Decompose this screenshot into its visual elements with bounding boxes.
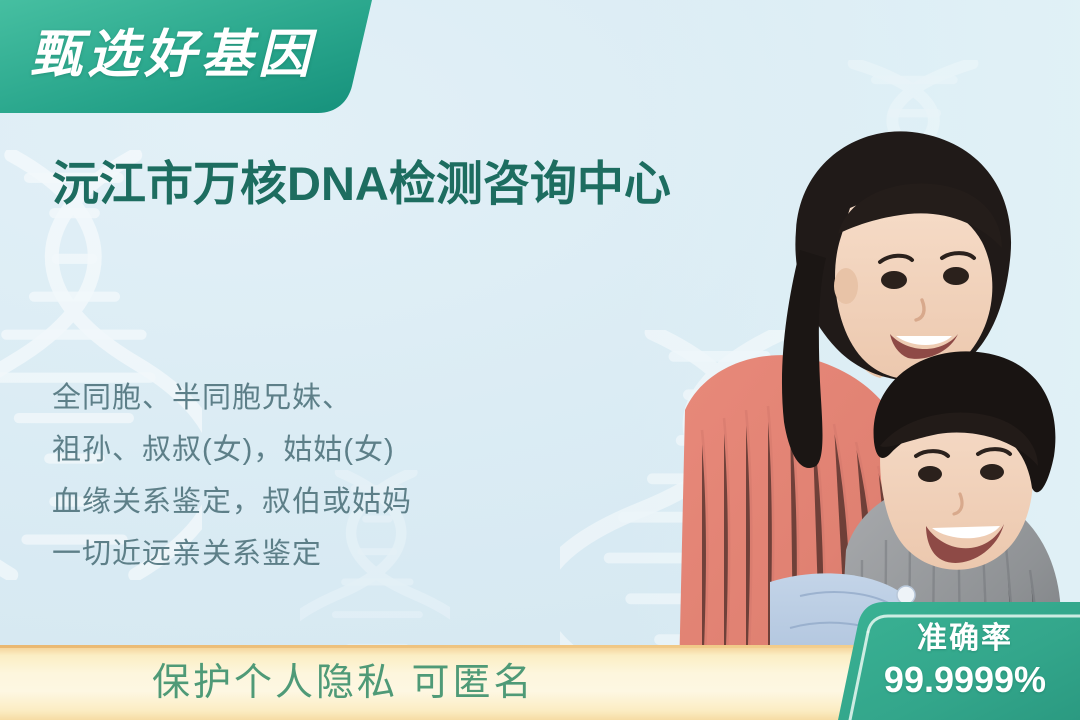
service-line: 一切近远亲关系鉴定 — [52, 528, 412, 580]
service-line: 全同胞、半同胞兄妹、 — [52, 372, 412, 424]
page-title: 沅江市万核DNA检测咨询中心 — [52, 153, 671, 215]
promo-banner: 甄选好基因 沅江市万核DNA检测咨询中心 全同胞、半同胞兄妹、 祖孙、叔叔(女)… — [0, 0, 1080, 720]
accuracy-badge-content: 准确率 99.9999% — [828, 602, 1080, 720]
accuracy-label: 准确率 — [917, 621, 1013, 657]
brand-tab: 甄选好基因 — [0, 0, 372, 113]
accuracy-badge: 准确率 99.9999% — [828, 602, 1080, 720]
service-list: 全同胞、半同胞兄妹、 祖孙、叔叔(女)，姑姑(女) 血缘关系鉴定，叔伯或姑妈 一… — [52, 372, 412, 580]
privacy-statement: 保护个人隐私 可匿名 — [152, 659, 535, 707]
accuracy-value: 99.9999% — [884, 659, 1046, 701]
service-line: 祖孙、叔叔(女)，姑姑(女) — [52, 424, 412, 476]
brand-tab-label: 甄选好基因 — [30, 16, 320, 94]
service-line: 血缘关系鉴定，叔伯或姑妈 — [52, 476, 412, 528]
